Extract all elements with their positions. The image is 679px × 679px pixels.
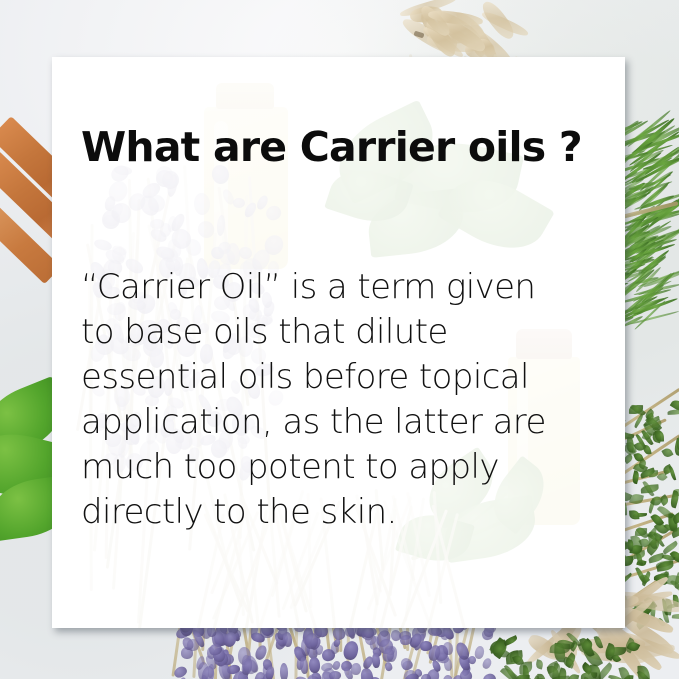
card-text-layer: What are Carrier oils ? “Carrier Oil” is… [52,57,625,628]
body-paragraph: “Carrier Oil” is a term givento base oil… [81,265,609,535]
body-line: “Carrier Oil” is a term given [81,265,609,310]
body-line: to base oils that dilute [81,310,609,355]
content-card: What are Carrier oils ? “Carrier Oil” is… [52,57,625,628]
page-title: What are Carrier oils ? [81,127,611,168]
body-line: much too potent to apply [81,445,609,490]
body-line: essential oils before topical [81,355,609,400]
infographic-canvas: What are Carrier oils ? “Carrier Oil” is… [0,0,679,679]
body-line: directly to the skin. [81,490,609,535]
body-line: application, as the latter are [81,400,609,445]
